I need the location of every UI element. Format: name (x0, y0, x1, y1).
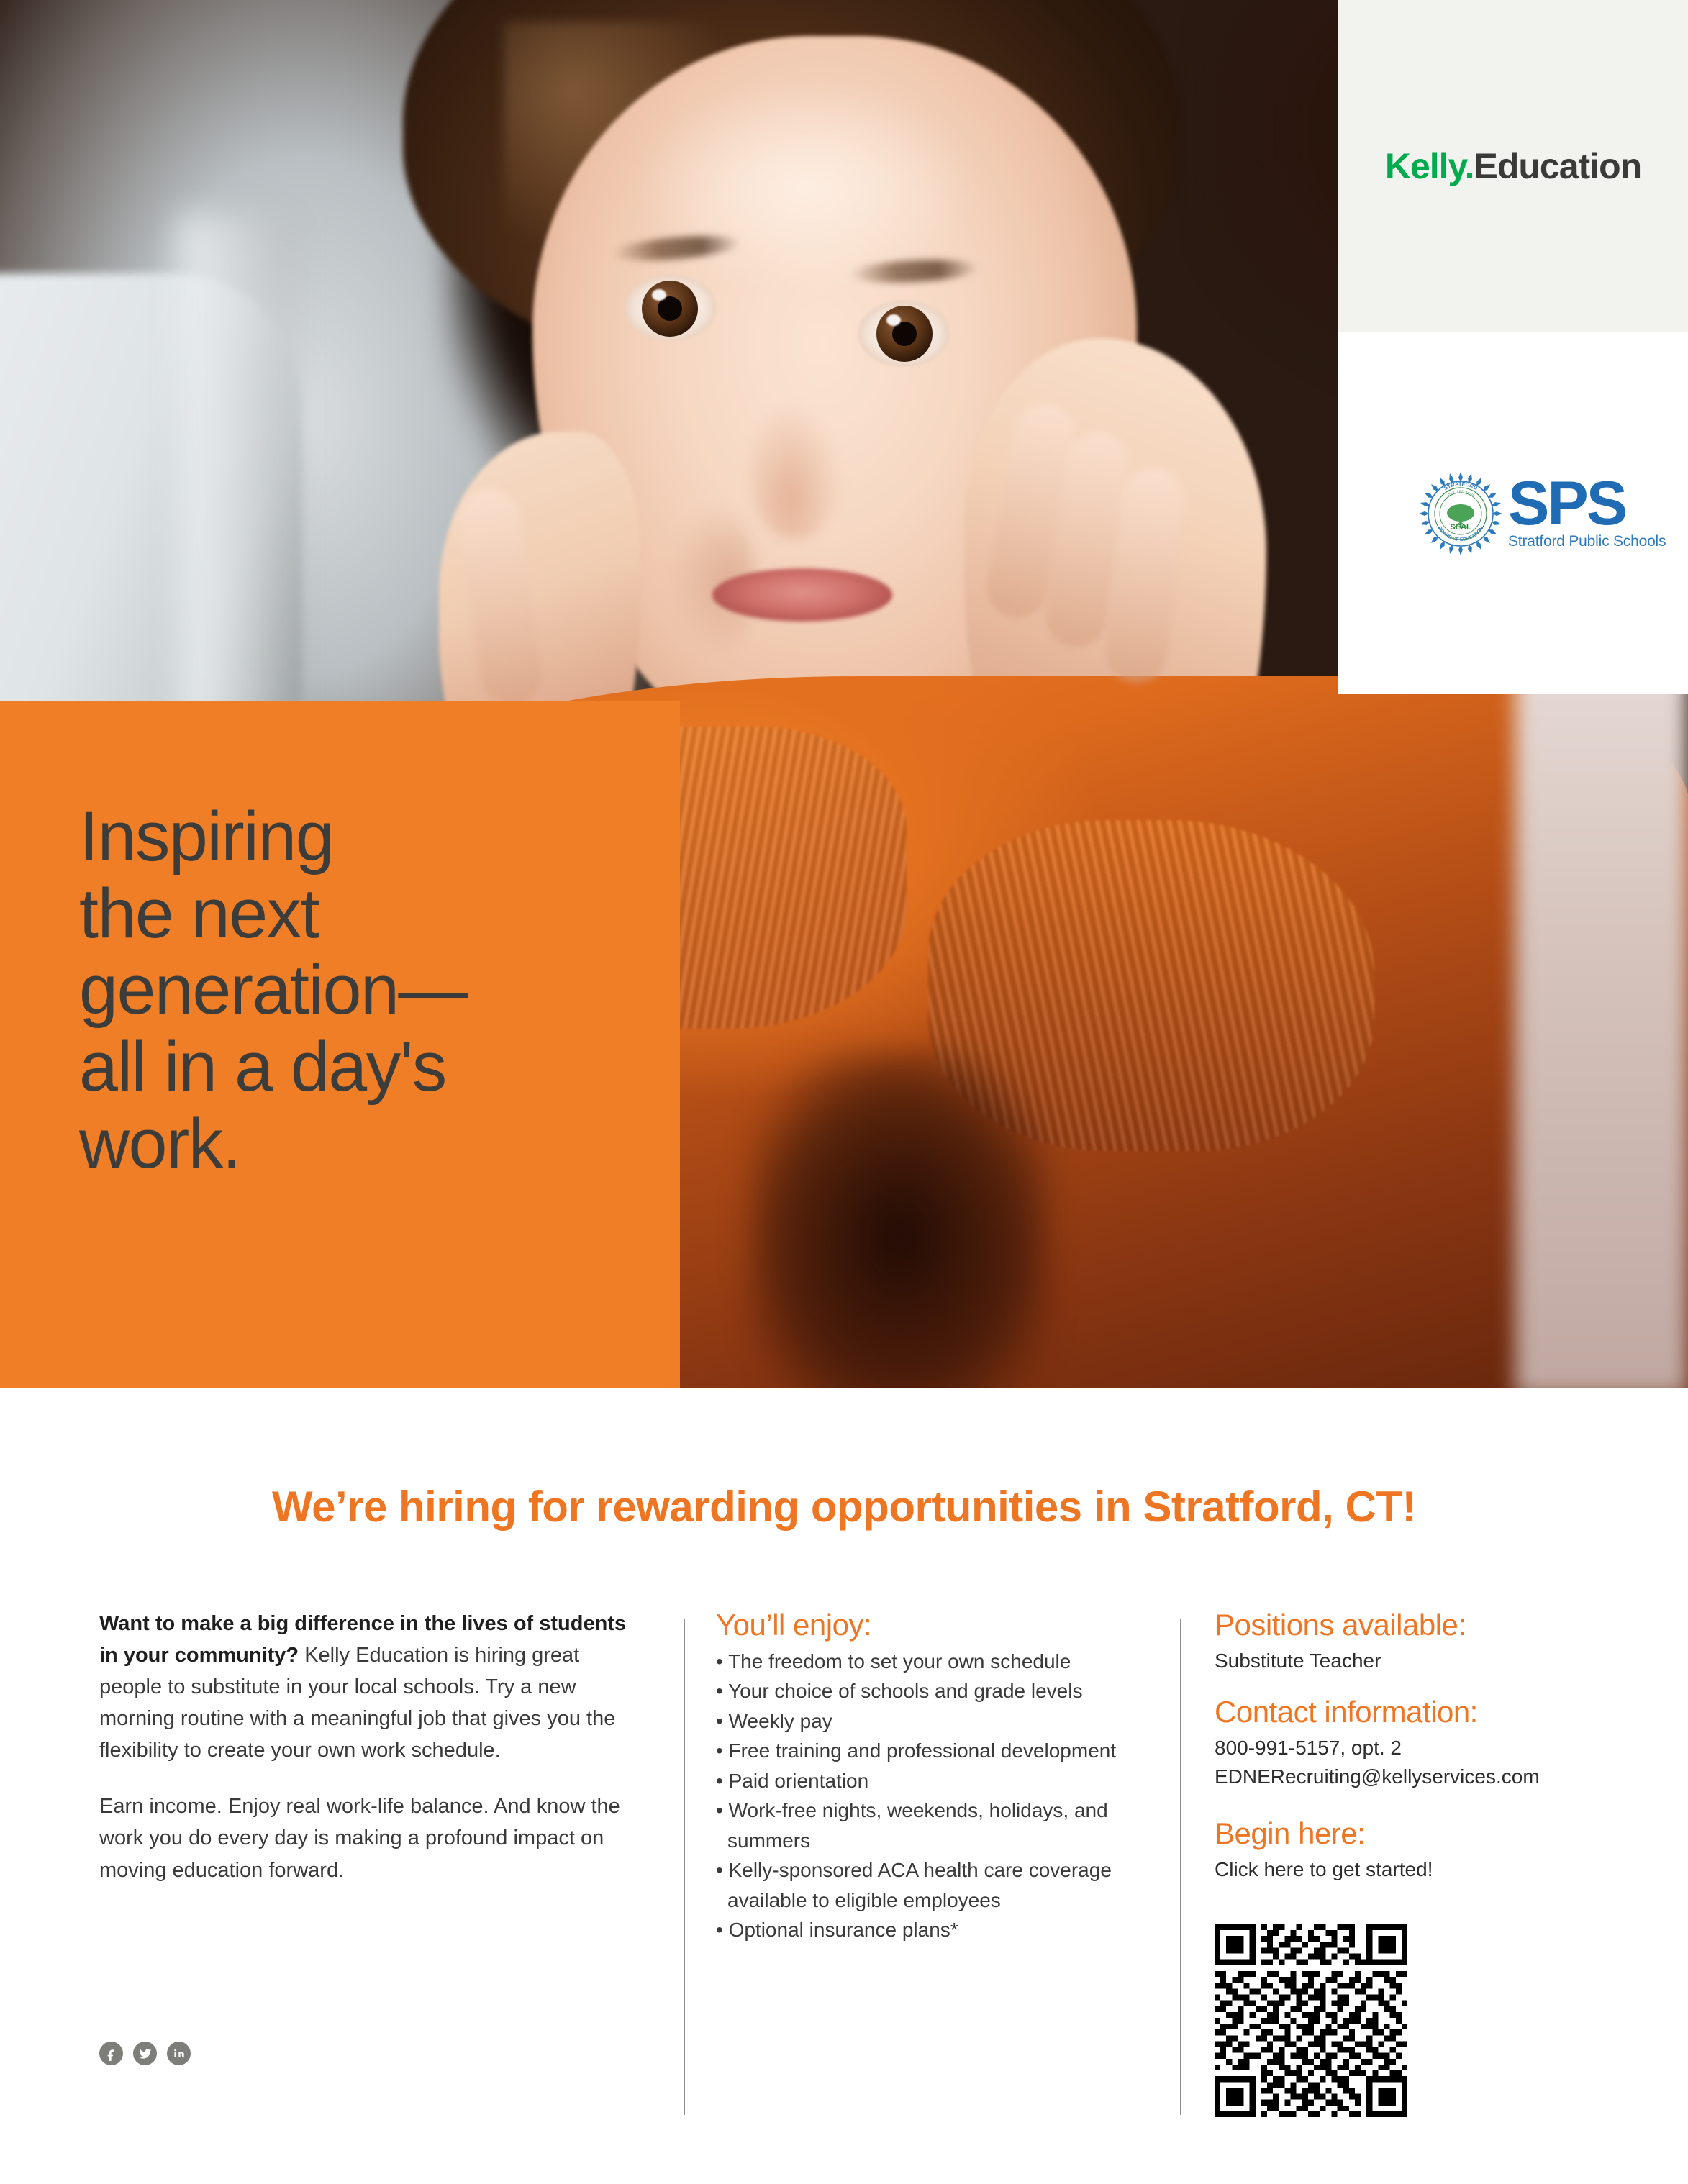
kelly-education-logo-panel: Kelly.Education (1338, 0, 1688, 332)
education-wordmark: Education (1474, 146, 1642, 186)
twitter-icon[interactable] (133, 2042, 157, 2065)
column-divider-left (684, 1619, 685, 2115)
benefits-heading: You’ll enjoy: (716, 1608, 1169, 1642)
list-item: • Optional insurance plans* (716, 1915, 1169, 1944)
qr-code[interactable] (1215, 1924, 1407, 2117)
photo-eye-glint-right (886, 314, 901, 326)
kelly-education-logo: Kelly.Education (1385, 145, 1641, 187)
column-divider-right (1180, 1619, 1181, 2115)
list-item: • Paid orientation (716, 1766, 1169, 1796)
svg-text:SETTLED 1639: SETTLED 1639 (1447, 489, 1474, 497)
list-item: • The freedom to set your own schedule (716, 1647, 1169, 1676)
photo-mouth (712, 568, 892, 622)
contact-phone[interactable]: 800-991-5157, opt. 2 (1215, 1734, 1646, 1763)
positions-available-value: Substitute Teacher (1215, 1647, 1646, 1676)
left-text-column: Want to make a big difference in the liv… (99, 1608, 646, 1911)
photo-nose (748, 403, 842, 540)
photo-wall-right (1515, 633, 1688, 1388)
benefits-column: You’ll enjoy: • The freedom to set your … (716, 1608, 1169, 1944)
list-item: • Your choice of schools and grade level… (716, 1676, 1169, 1706)
hiring-banner-text: We’re hiring for rewarding opportunities… (0, 1482, 1688, 1532)
contact-email[interactable]: EDNERecruiting@kellyservices.com (1215, 1762, 1646, 1792)
positions-available-heading: Positions available: (1215, 1608, 1646, 1642)
secondary-paragraph: Earn income. Enjoy real work-life balanc… (99, 1791, 646, 1885)
benefits-list: • The freedom to set your own schedule •… (716, 1647, 1169, 1944)
list-item: • Weekly pay (716, 1706, 1169, 1736)
photo-fold-shadow (748, 1050, 1051, 1388)
linkedin-icon[interactable] (167, 2042, 191, 2065)
contact-column: Positions available: Substitute Teacher … (1215, 1608, 1646, 1884)
sps-letters: SPS (1508, 476, 1666, 532)
begin-here-heading: Begin here: (1215, 1816, 1646, 1851)
stratford-public-schools-logo-panel: STRATFORD BOARD OF EDUCATION SETTLED 163… (1338, 332, 1688, 694)
list-item: • Work-free nights, weekends, holidays, … (716, 1796, 1169, 1855)
contact-information-heading: Contact information: (1215, 1695, 1646, 1729)
stratford-board-of-education-seal-icon: STRATFORD BOARD OF EDUCATION SETTLED 163… (1417, 470, 1504, 557)
facebook-icon[interactable] (99, 2042, 123, 2065)
svg-text:SEAL: SEAL (1450, 523, 1471, 532)
photo-eye-glint-left (652, 289, 666, 301)
intro-paragraph: Want to make a big difference in the liv… (99, 1608, 646, 1766)
get-started-link[interactable]: Click here to get started! (1215, 1855, 1646, 1885)
flyer-page: Kelly.Education (0, 0, 1688, 2184)
hero-headline: Inspiring the next generation— all in a … (79, 798, 648, 1182)
social-links (99, 2042, 191, 2065)
headline-orange-block: Inspiring the next generation— all in a … (0, 701, 680, 1388)
list-item: • Kelly-sponsored ACA health care covera… (716, 1855, 1169, 1915)
list-item: • Free training and professional develop… (716, 1736, 1169, 1765)
kelly-wordmark: Kelly. (1385, 146, 1474, 186)
sps-subtitle: Stratford Public Schools (1508, 533, 1666, 550)
photo-screen-edge (180, 216, 295, 777)
